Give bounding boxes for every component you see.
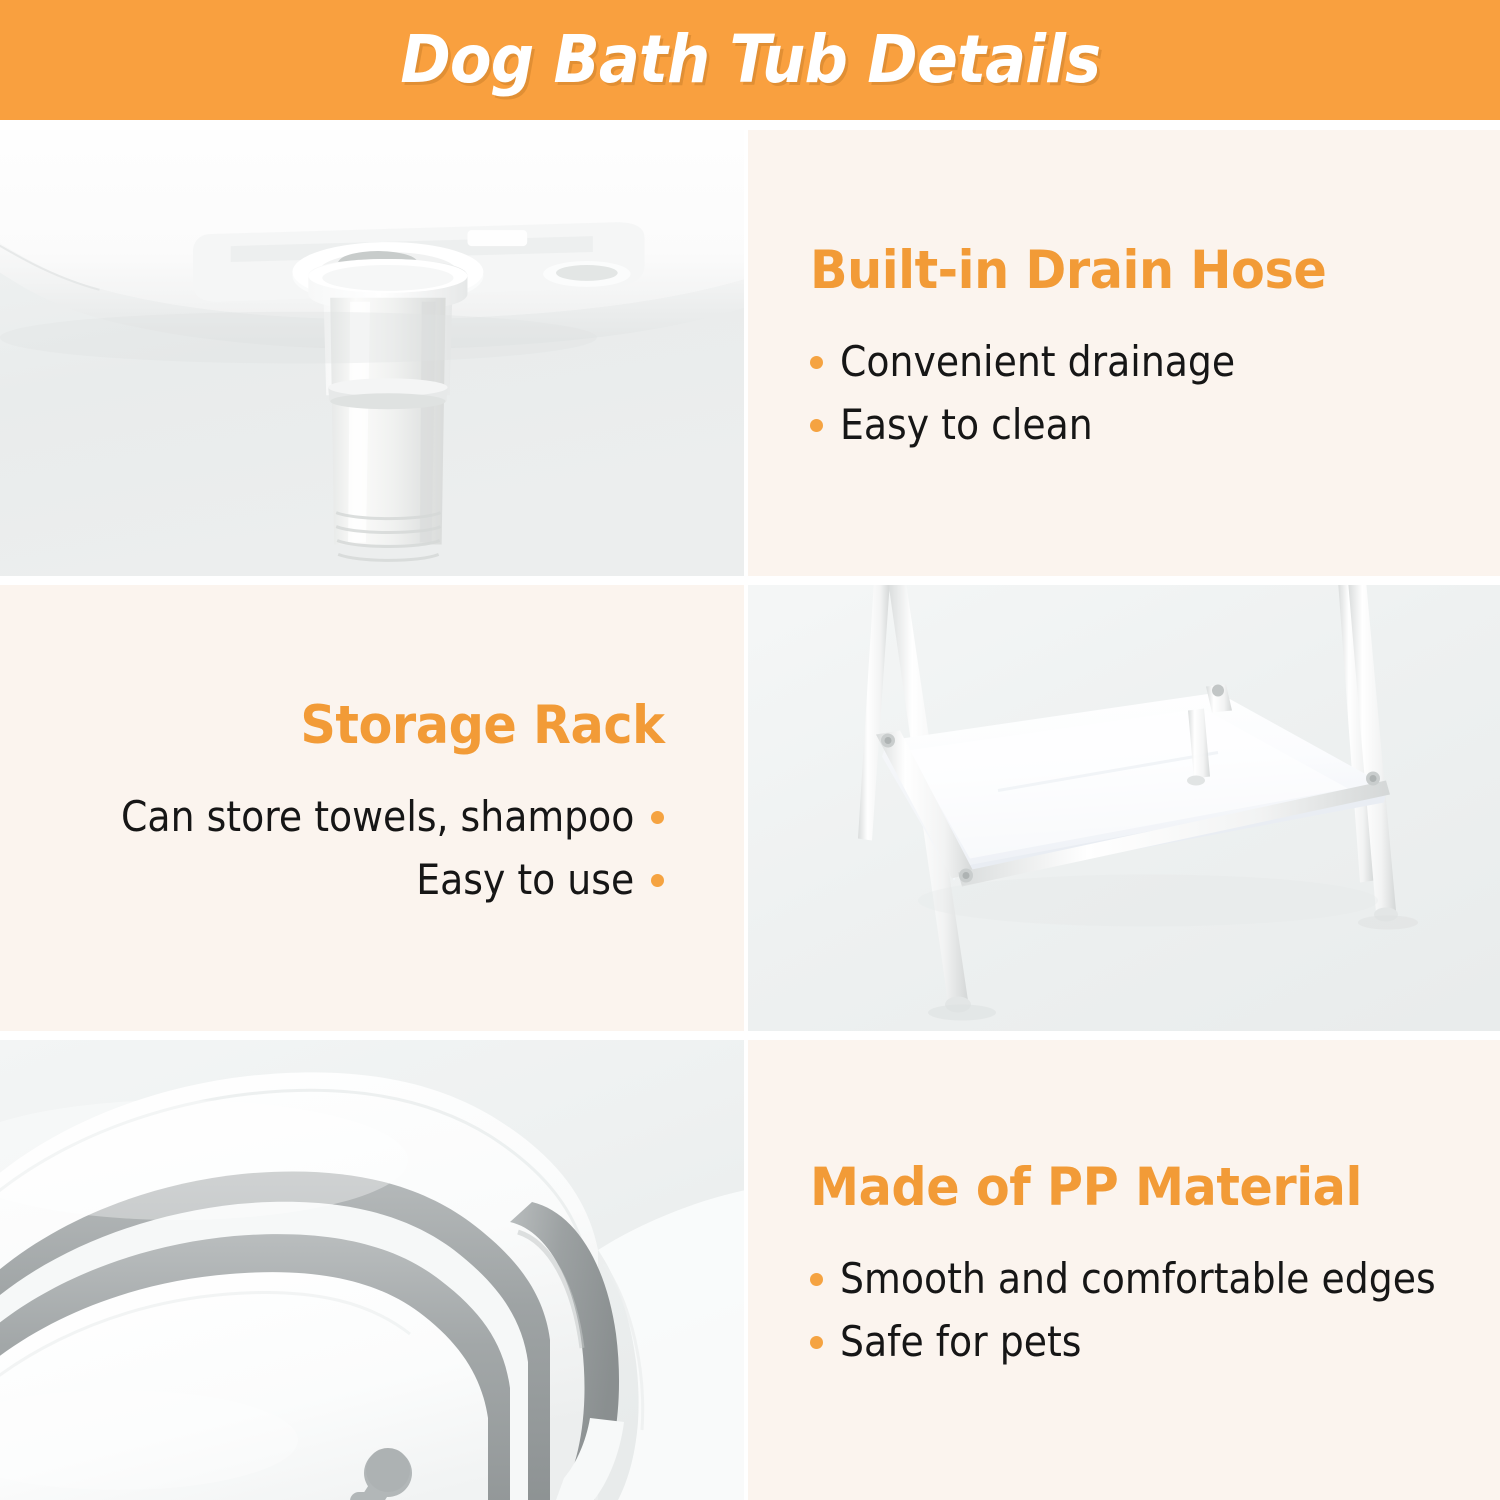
pp-material-photo xyxy=(0,1040,744,1500)
feature-bullets-storage-rack: Can store towels, shampoo Easy to use xyxy=(64,780,664,918)
header-banner: Dog Bath Tub Details xyxy=(0,0,1500,120)
bullet-dot-icon xyxy=(651,811,664,824)
bullet-item: Smooth and comfortable edges xyxy=(810,1253,1500,1306)
bullet-label: Easy to use xyxy=(416,854,634,907)
bullet-label: Easy to clean xyxy=(840,399,1093,452)
bullet-label: Convenient drainage xyxy=(840,336,1235,389)
bullet-dot-icon xyxy=(810,356,823,369)
bullet-item: Easy to use xyxy=(64,854,664,907)
bullet-label: Smooth and comfortable edges xyxy=(840,1253,1436,1306)
pp-material-photo-cell xyxy=(0,1040,748,1500)
bullet-label: Can store towels, shampoo xyxy=(121,791,634,844)
bullet-item: Can store towels, shampoo xyxy=(64,791,664,844)
storage-rack-photo xyxy=(748,585,1500,1031)
feature-bullets-pp-material: Smooth and comfortable edges Safe for pe… xyxy=(810,1242,1500,1380)
bullet-item: Easy to clean xyxy=(810,399,1279,452)
bullet-item: Safe for pets xyxy=(810,1316,1500,1369)
feature-bullets-drain-hose: Convenient drainage Easy to clean xyxy=(810,325,1279,463)
drain-hose-text-cell: Built-in Drain Hose Convenient drainage … xyxy=(748,130,1500,585)
bullet-dot-icon xyxy=(810,1336,823,1349)
infographic-page: Dog Bath Tub Details xyxy=(0,0,1500,1500)
pp-material-text-cell: Made of PP Material Smooth and comfortab… xyxy=(748,1040,1500,1500)
feature-heading-storage-rack: Storage Rack xyxy=(300,698,664,754)
drain-hose-photo-cell xyxy=(0,130,748,585)
bullet-dot-icon xyxy=(651,874,664,887)
page-title: Dog Bath Tub Details xyxy=(400,27,1100,93)
drain-hose-photo xyxy=(0,130,744,576)
feature-heading-pp-material: Made of PP Material xyxy=(810,1160,1362,1216)
storage-rack-text-cell: Storage Rack Can store towels, shampoo E… xyxy=(0,585,748,1040)
storage-rack-photo-cell xyxy=(748,585,1500,1040)
feature-heading-drain-hose: Built-in Drain Hose xyxy=(810,243,1326,299)
feature-grid: Built-in Drain Hose Convenient drainage … xyxy=(0,130,1500,1500)
bullet-label: Safe for pets xyxy=(840,1316,1081,1369)
bullet-dot-icon xyxy=(810,1273,823,1286)
bullet-dot-icon xyxy=(810,419,823,432)
bullet-item: Convenient drainage xyxy=(810,336,1279,389)
